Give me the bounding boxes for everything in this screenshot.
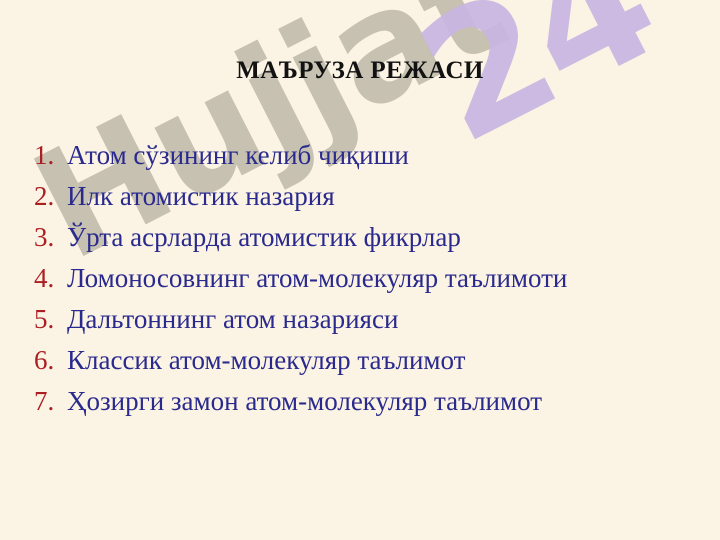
list-item-number: 1. [34, 140, 60, 171]
list-item: 7. Ҳозирги замон атом-молекуляр таълимот [0, 386, 720, 427]
list-item-label: Атом сўзининг келиб чиқиши [67, 140, 409, 171]
list-item-number: 7. [34, 386, 60, 417]
list-item-label: Классик атом-молекуляр таълимот [67, 345, 465, 376]
list-item-number: 6. [34, 345, 60, 376]
slide-content: МАЪРУЗА РЕЖАСИ 1. Атом сўзининг келиб чи… [0, 0, 720, 540]
list-item-number: 5. [34, 304, 60, 335]
agenda-list: 1. Атом сўзининг келиб чиқиши 2. Илк ато… [0, 140, 720, 427]
list-item-label: Ҳозирги замон атом-молекуляр таълимот [67, 386, 542, 417]
list-item: 5. Дальтоннинг атом назарияси [0, 304, 720, 345]
list-item-number: 4. [34, 263, 60, 294]
list-item: 1. Атом сўзининг келиб чиқиши [0, 140, 720, 181]
presentation-slide: Hujjat 24 МАЪРУЗА РЕЖАСИ 1. Атом сўзинин… [0, 0, 720, 540]
list-item: 6. Классик атом-молекуляр таълимот [0, 345, 720, 386]
list-item: 2. Илк атомистик назария [0, 181, 720, 222]
list-item-label: Дальтоннинг атом назарияси [67, 304, 398, 335]
list-item-label: Ломоносовнинг атом-молекуляр таълимоти [67, 263, 567, 294]
list-item: 3. Ўрта асрларда атомистик фикрлар [0, 222, 720, 263]
list-item-label: Ўрта асрларда атомистик фикрлар [67, 222, 461, 253]
list-item-number: 3. [34, 222, 60, 253]
list-item-number: 2. [34, 181, 60, 212]
list-item: 4. Ломоносовнинг атом-молекуляр таълимот… [0, 263, 720, 304]
list-item-label: Илк атомистик назария [67, 181, 335, 212]
page-title: МАЪРУЗА РЕЖАСИ [0, 57, 720, 85]
